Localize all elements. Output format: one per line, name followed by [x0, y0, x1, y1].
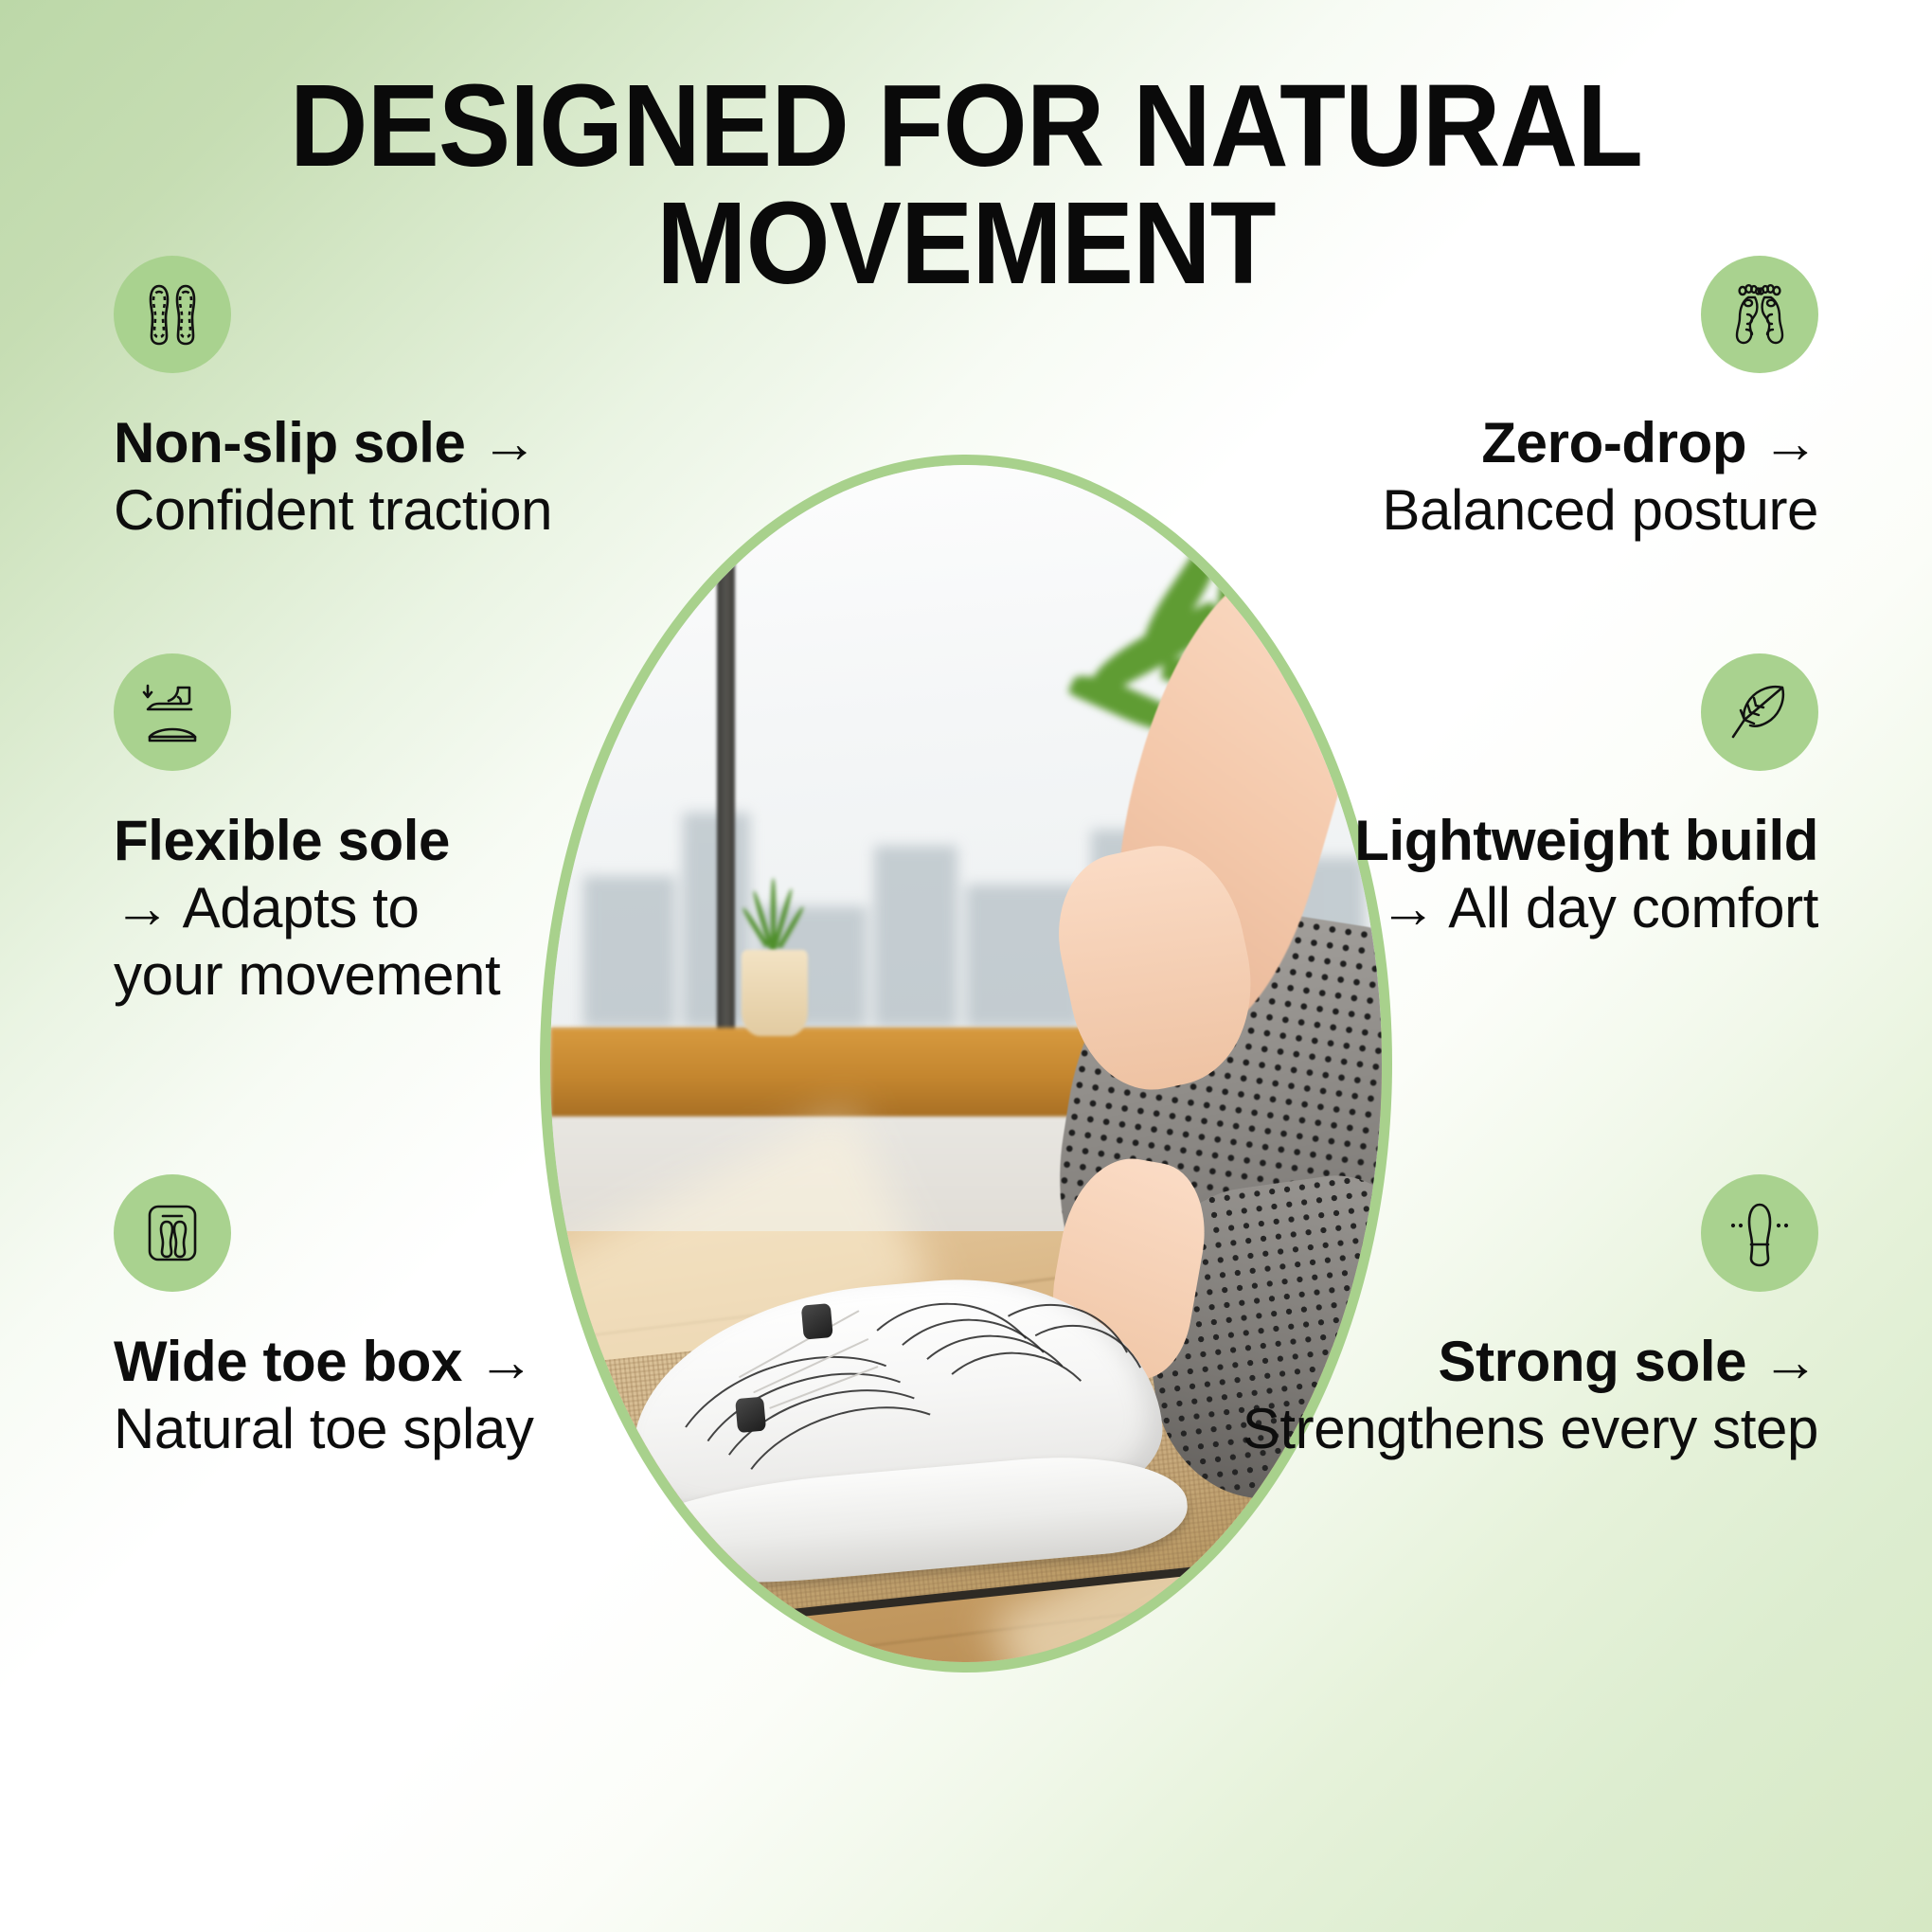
- feature-arrow: →: [477, 1330, 534, 1393]
- feature-text: Lightweight build → All day comfort: [1345, 807, 1818, 941]
- feature-description: All day comfort: [1448, 876, 1818, 939]
- feature-arrow: →: [1380, 876, 1437, 939]
- feature-heading: Strong sole: [1438, 1330, 1746, 1393]
- shoe-print-icon: [1701, 1174, 1818, 1292]
- barefoot-prints-icon: [1701, 256, 1818, 373]
- feature-text: Non-slip sole → Confident traction: [114, 409, 559, 544]
- feature-heading: Lightweight build: [1354, 809, 1818, 872]
- feather-icon: [1701, 653, 1818, 771]
- feature-lightweight-build: Lightweight build → All day comfort: [1345, 653, 1818, 941]
- feature-arrow: →: [481, 411, 538, 474]
- feature-zero-drop: Zero-drop → Balanced posture: [1373, 256, 1818, 544]
- feature-non-slip-sole: Non-slip sole → Confident traction: [114, 256, 559, 544]
- potted-plant-leaves: [746, 878, 801, 957]
- feature-text: Wide toe box → Natural toe splay: [114, 1328, 682, 1462]
- feature-text: Strong sole → Strengthens every step: [1155, 1328, 1818, 1462]
- feature-flexible-sole: Flexible sole → Adapts to your movement: [114, 653, 521, 1009]
- feature-text: Flexible sole → Adapts to your movement: [114, 807, 521, 1009]
- photo-scene: [550, 465, 1382, 1662]
- feature-description: Natural toe splay: [114, 1397, 533, 1460]
- title-line-1: DESIGNED FOR NATURAL: [147, 68, 1785, 186]
- feature-strong-sole: Strong sole → Strengthens every step: [1155, 1174, 1818, 1462]
- lace-toggle-upper: [801, 1303, 833, 1340]
- feature-description: Confident traction: [114, 478, 552, 542]
- feature-arrow: →: [1762, 1330, 1818, 1393]
- toe-box-icon: [114, 1174, 231, 1292]
- feature-heading: Non-slip sole: [114, 411, 466, 474]
- feature-arrow: →: [1762, 411, 1818, 474]
- window-frame: [717, 465, 735, 1087]
- feature-heading: Zero-drop: [1481, 411, 1746, 474]
- feature-heading: Flexible sole: [114, 809, 450, 872]
- poster-canvas: DESIGNED FOR NATURAL MOVEMENT: [0, 0, 1932, 1932]
- feature-text: Zero-drop → Balanced posture: [1373, 409, 1818, 544]
- feature-description: Adapts to your movement: [114, 876, 500, 1007]
- foot-on-cushion-icon: [114, 653, 231, 771]
- lace-toggle-lower: [735, 1396, 767, 1433]
- feature-arrow: →: [114, 876, 170, 939]
- insoles-icon: [114, 256, 231, 373]
- feature-wide-toe-box: Wide toe box → Natural toe splay: [114, 1174, 682, 1462]
- plant-pot: [742, 950, 808, 1036]
- feature-description: Balanced posture: [1382, 478, 1818, 542]
- product-photo: [540, 455, 1392, 1673]
- feature-heading: Wide toe box: [114, 1330, 462, 1393]
- feature-description: Strengthens every step: [1243, 1397, 1818, 1460]
